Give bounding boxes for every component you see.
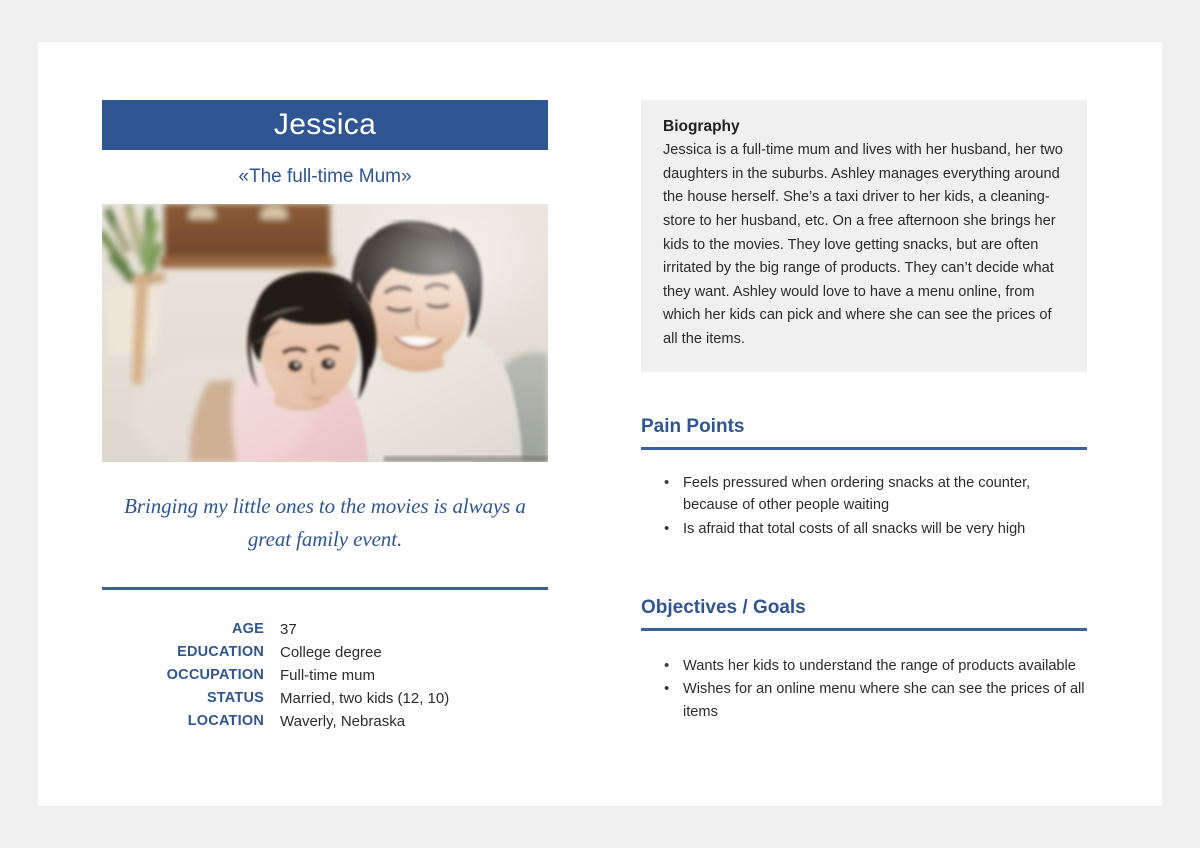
- persona-name: Jessica: [274, 110, 376, 140]
- persona-right-column: Biography Jessica is a full-time mum and…: [641, 100, 1087, 724]
- attribute-value-status: Married, two kids (12, 10): [280, 687, 548, 710]
- biography-text: Jessica is a full-time mum and lives wit…: [663, 139, 1065, 352]
- persona-tagline-container: «The full-time Mum»: [102, 150, 548, 204]
- persona-tagline: «The full-time Mum»: [238, 166, 411, 188]
- persona-quote: Bringing my little ones to the movies is…: [120, 490, 530, 555]
- table-row: LOCATION Waverly, Nebraska: [102, 710, 548, 733]
- table-row: STATUS Married, two kids (12, 10): [102, 687, 548, 710]
- table-row: EDUCATION College degree: [102, 641, 548, 664]
- attribute-value-age: 37: [280, 618, 548, 641]
- persona-attributes-table: AGE 37 EDUCATION College degree OCCUPATI…: [102, 618, 548, 733]
- persona-left-column: Jessica «The full-time Mum»: [102, 100, 548, 733]
- attribute-label-status: STATUS: [102, 687, 280, 710]
- pain-points-divider: [641, 447, 1087, 450]
- attribute-value-education: College degree: [280, 641, 548, 664]
- table-row: OCCUPATION Full-time mum: [102, 664, 548, 687]
- attribute-value-location: Waverly, Nebraska: [280, 710, 548, 733]
- pain-points-section: Pain Points Feels pressured when orderin…: [641, 416, 1087, 541]
- objectives-title: Objectives / Goals: [641, 597, 1087, 619]
- list-item: Wants her kids to understand the range o…: [683, 655, 1087, 678]
- attribute-label-location: LOCATION: [102, 710, 280, 733]
- mother-and-daughter-photo: [102, 204, 548, 462]
- attribute-label-age: AGE: [102, 618, 280, 641]
- list-item: Feels pressured when ordering snacks at …: [683, 472, 1087, 517]
- persona-name-banner: Jessica: [102, 100, 548, 150]
- table-row: AGE 37: [102, 618, 548, 641]
- persona-quote-container: Bringing my little ones to the movies is…: [102, 462, 548, 555]
- objectives-section: Objectives / Goals Wants her kids to und…: [641, 597, 1087, 724]
- biography-title: Biography: [663, 118, 1065, 136]
- attribute-label-occupation: OCCUPATION: [102, 664, 280, 687]
- attribute-value-occupation: Full-time mum: [280, 664, 548, 687]
- persona-card: Jessica «The full-time Mum»: [38, 42, 1162, 806]
- attributes-divider: [102, 587, 548, 590]
- attribute-label-education: EDUCATION: [102, 641, 280, 664]
- persona-photo: [102, 204, 548, 462]
- list-item: Wishes for an online menu where she can …: [683, 678, 1087, 723]
- objectives-list: Wants her kids to understand the range o…: [641, 655, 1087, 724]
- pain-points-list: Feels pressured when ordering snacks at …: [641, 472, 1087, 541]
- objectives-divider: [641, 628, 1087, 631]
- list-item: Is afraid that total costs of all snacks…: [683, 518, 1087, 541]
- biography-box: Biography Jessica is a full-time mum and…: [641, 100, 1087, 372]
- pain-points-title: Pain Points: [641, 416, 1087, 438]
